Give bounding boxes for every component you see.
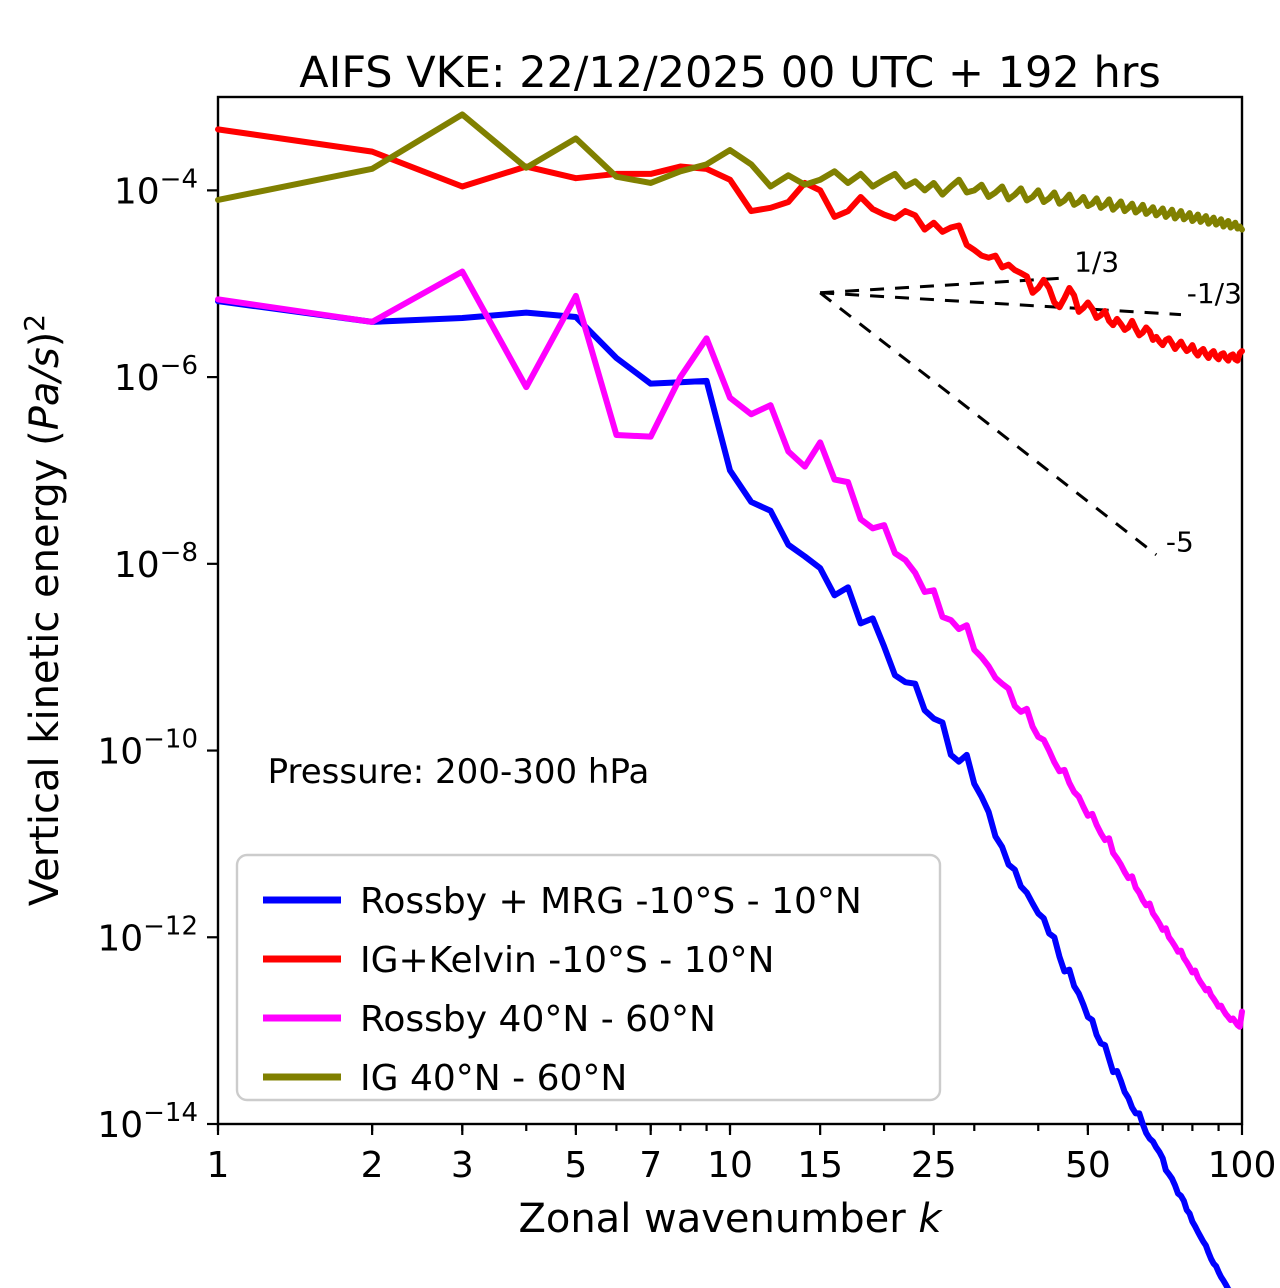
chart-legend[interactable]: Rossby + MRG -10°S - 10°NIG+Kelvin -10°S…	[237, 855, 940, 1100]
figure-container: AIFS VKE: 22/12/2025 00 UTC + 192 hrs 10…	[0, 0, 1280, 1288]
x-tick-label: 100	[1208, 1145, 1277, 1186]
x-tick-label: 15	[797, 1145, 843, 1186]
legend-label: Rossby + MRG -10°S - 10°N	[360, 881, 862, 922]
x-axis-label-text: Zonal wavenumber	[518, 1196, 918, 1242]
legend-label: IG 40°N - 60°N	[360, 1058, 627, 1099]
x-tick-label: 10	[707, 1145, 753, 1186]
x-tick-label: 7	[639, 1145, 662, 1186]
y-axis-label: Vertical kinetic energy (Pa/s)2	[18, 314, 68, 906]
slope-label: 1/3	[1074, 246, 1119, 279]
vke-spectrum-chart: AIFS VKE: 22/12/2025 00 UTC + 192 hrs 10…	[0, 0, 1280, 1288]
x-tick-label: 1	[207, 1145, 230, 1186]
x-axis-label: Zonal wavenumber k	[518, 1196, 943, 1242]
legend-label: IG+Kelvin -10°S - 10°N	[360, 940, 774, 981]
x-tick-label: 50	[1065, 1145, 1111, 1186]
x-tick-label: 25	[911, 1145, 957, 1186]
slope-label: -5	[1166, 526, 1194, 559]
chart-title: AIFS VKE: 22/12/2025 00 UTC + 192 hrs	[299, 48, 1161, 98]
slope-label: -1/3	[1187, 277, 1242, 310]
x-tick-label: 2	[361, 1145, 384, 1186]
x-tick-label: 3	[451, 1145, 474, 1186]
pressure-annotation: Pressure: 200-300 hPa	[268, 752, 650, 792]
x-tick-label: 5	[564, 1145, 587, 1186]
x-axis-label-symbol: k	[918, 1196, 943, 1242]
legend-label: Rossby 40°N - 60°N	[360, 999, 716, 1040]
